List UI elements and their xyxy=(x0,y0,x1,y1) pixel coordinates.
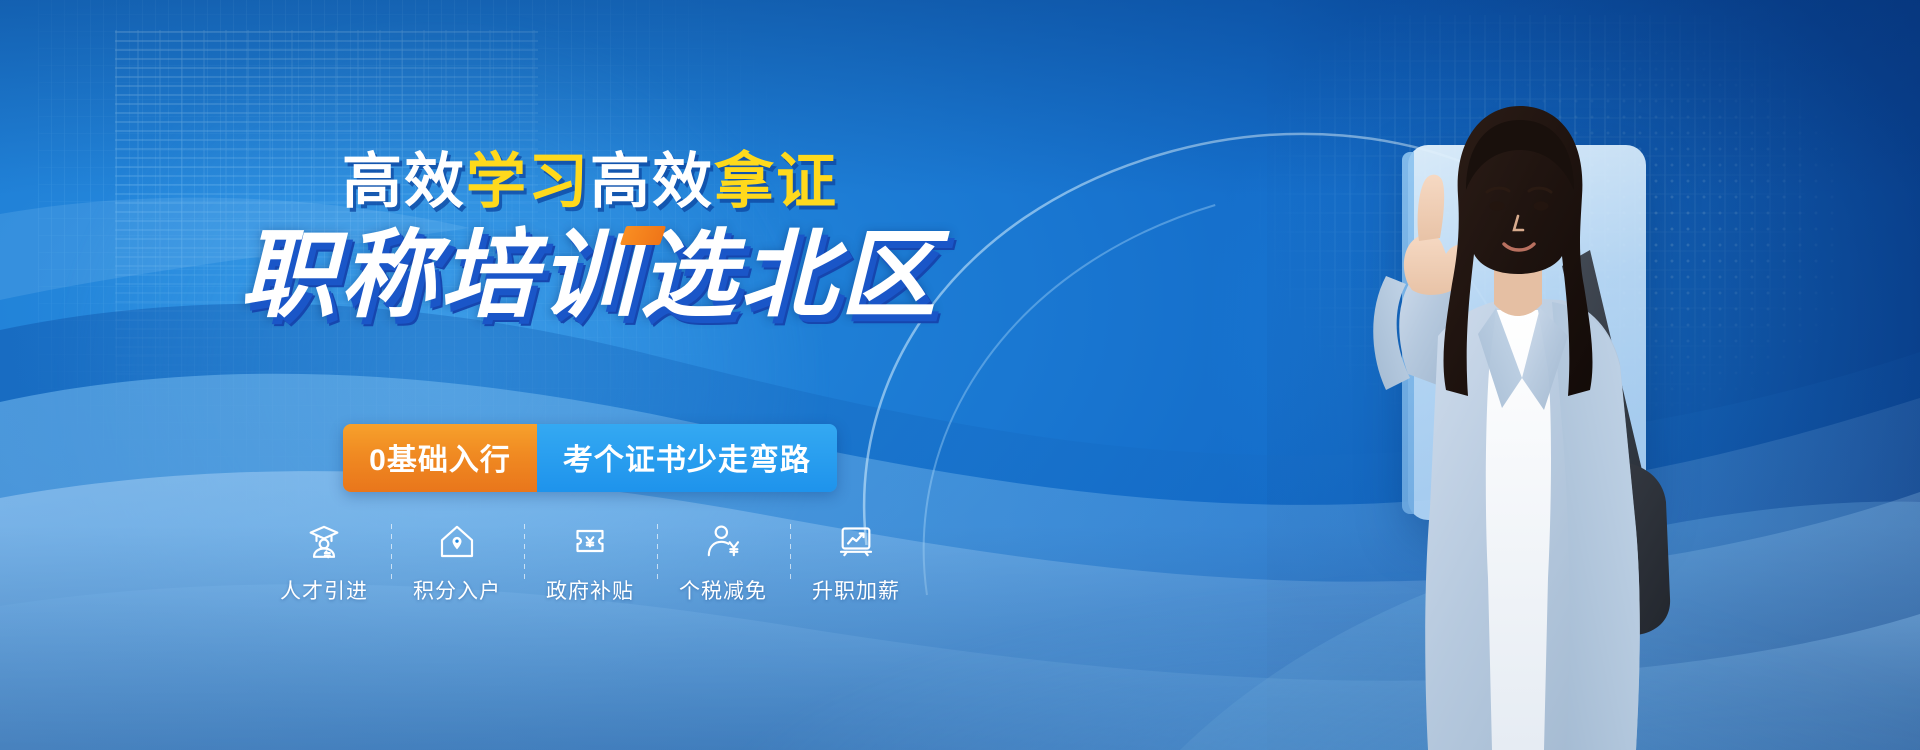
chart-growth-icon xyxy=(835,520,877,562)
feature-label: 人才引进 xyxy=(280,575,368,605)
feature-label: 个税减免 xyxy=(679,575,767,605)
hero-image-zone xyxy=(1140,0,1920,750)
graduation-cap-icon xyxy=(303,520,345,562)
feature-label: 升职加薪 xyxy=(812,575,900,605)
slogan-badge-right: 考个证书少走弯路 xyxy=(537,424,837,492)
headline-segment-1: 高效 xyxy=(342,148,466,215)
headline: 高效学习高效拿证 xyxy=(0,152,1180,212)
headline-segment-3: 高效 xyxy=(590,148,714,215)
feature-item-government-subsidy[interactable]: 政府补贴 xyxy=(524,520,657,605)
slogan-badge-left: 0基础入行 xyxy=(343,424,537,492)
banner-content: 高效学习高效拿证 职称培训选北区 0基础入行 考个证书少走弯路 xyxy=(0,0,1180,750)
title-accent-mark-icon xyxy=(620,226,666,245)
feature-item-points-residence[interactable]: 积分入户 xyxy=(391,520,524,605)
ticket-yuan-icon xyxy=(569,520,611,562)
feature-item-promotion-raise[interactable]: 升职加薪 xyxy=(790,520,923,605)
feature-label: 政府补贴 xyxy=(546,575,634,605)
promo-banner: 高效学习高效拿证 职称培训选北区 0基础入行 考个证书少走弯路 xyxy=(0,0,1920,750)
feature-label: 积分入户 xyxy=(413,575,501,605)
feature-item-talent-introduction[interactable]: 人才引进 xyxy=(258,520,391,605)
headline-segment-2: 学习 xyxy=(466,148,590,215)
feature-item-tax-reduction[interactable]: 个税减免 xyxy=(657,520,790,605)
home-pin-icon xyxy=(436,520,478,562)
person-yuan-icon xyxy=(702,520,744,562)
slogan-badge-inner: 0基础入行 考个证书少走弯路 xyxy=(343,424,837,492)
main-title: 职称培训选北区 xyxy=(240,228,940,324)
presenter-photo xyxy=(1290,78,1710,750)
slogan-badge: 0基础入行 考个证书少走弯路 xyxy=(0,424,1180,492)
headline-segment-4: 拿证 xyxy=(714,148,838,215)
main-title-wrapper: 职称培训选北区 xyxy=(0,228,1180,324)
feature-list: 人才引进 积分入户 xyxy=(0,520,1180,605)
